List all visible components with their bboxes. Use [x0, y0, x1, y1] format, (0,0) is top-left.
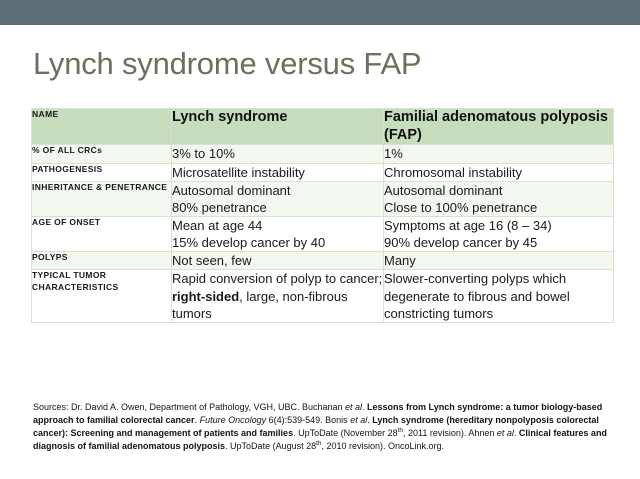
cell-fap-inheritance-penetrance: Autosomal dominant Close to 100% penetra…	[384, 181, 614, 216]
source-text: 6(4):539-549. Bonis	[266, 415, 350, 425]
table-header-row: NAME Lynch syndrome Familial adenomatous…	[32, 109, 614, 145]
sources-footnote: Sources: Dr. David A. Owen, Department o…	[33, 401, 613, 454]
source-italic: et al	[350, 415, 367, 425]
cell-lynch-pathogenesis: Microsatellite instability	[172, 163, 384, 181]
row-label-pct-all-crcs: % OF ALL CRCs	[32, 145, 172, 163]
table-row: INHERITANCE & PENETRANCE Autosomal domin…	[32, 181, 614, 216]
source-text: Sources: Dr. David A. Owen, Department o…	[33, 402, 345, 412]
cell-fap-age-of-onset: Symptoms at age 16 (8 – 34) 90% develop …	[384, 217, 614, 252]
source-italic: Future Oncology	[200, 415, 267, 425]
cell-lynch-age-of-onset: Mean at age 44 15% develop cancer by 40	[172, 217, 384, 252]
cell-lynch-typical-tumor-characteristics: Rapid conversion of polyp to cancer; rig…	[172, 270, 384, 322]
row-label-typical-tumor-characteristics: TYPICAL TUMOR CHARACTERISTICS	[32, 270, 172, 322]
plain-text: Rapid conversion of polyp to cancer;	[172, 271, 382, 286]
table-row: % OF ALL CRCs 3% to 10% 1%	[32, 145, 614, 163]
source-italic: et al	[345, 402, 362, 412]
cell-lynch-inheritance-penetrance: Autosomal dominant 80% penetrance	[172, 181, 384, 216]
table-row: POLYPS Not seen, few Many	[32, 252, 614, 270]
column-header-lynch: Lynch syndrome	[172, 109, 384, 145]
comparison-table: NAME Lynch syndrome Familial adenomatous…	[31, 108, 614, 323]
cell-lynch-pct-all-crcs: 3% to 10%	[172, 145, 384, 163]
source-text: , 2011 revision). Ahnen	[403, 428, 497, 438]
row-label-age-of-onset: AGE OF ONSET	[32, 217, 172, 252]
source-italic: et al	[497, 428, 514, 438]
cell-fap-pct-all-crcs: 1%	[384, 145, 614, 163]
emphasis-text: right-sided	[172, 289, 239, 304]
table-row: AGE OF ONSET Mean at age 44 15% develop …	[32, 217, 614, 252]
column-header-fap: Familial adenomatous polyposis (FAP)	[384, 109, 614, 145]
table-row: TYPICAL TUMOR CHARACTERISTICS Rapid conv…	[32, 270, 614, 322]
slide-top-bar	[0, 0, 640, 25]
row-label-pathogenesis: PATHOGENESIS	[32, 163, 172, 181]
cell-fap-polyps: Many	[384, 252, 614, 270]
cell-lynch-polyps: Not seen, few	[172, 252, 384, 270]
column-header-name: NAME	[32, 109, 172, 145]
row-label-polyps: POLYPS	[32, 252, 172, 270]
source-text: . UpToDate (November 28	[293, 428, 398, 438]
source-text: . UpToDate (August 28	[225, 441, 316, 451]
page-title: Lynch syndrome versus FAP	[33, 47, 421, 81]
cell-fap-pathogenesis: Chromosomal instability	[384, 163, 614, 181]
row-label-inheritance-penetrance: INHERITANCE & PENETRANCE	[32, 181, 172, 216]
cell-fap-typical-tumor-characteristics: Slower-converting polyps which degenerat…	[384, 270, 614, 322]
table-row: PATHOGENESIS Microsatellite instability …	[32, 163, 614, 181]
source-text: , 2010 revision). OncoLink.org.	[321, 441, 444, 451]
